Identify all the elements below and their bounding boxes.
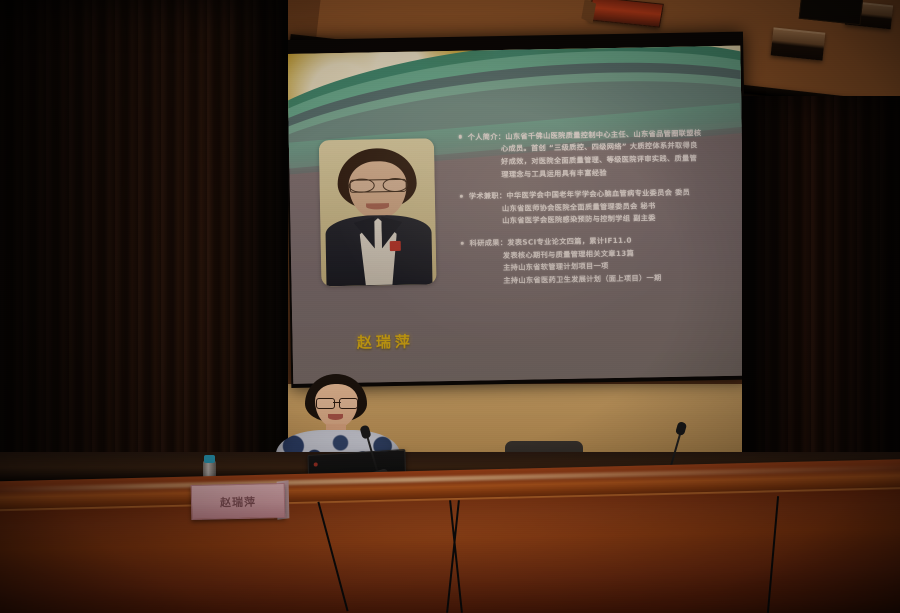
nameplate-text: 赵瑞萍	[220, 493, 256, 510]
conference-hall-photo: 赵瑞萍 个人简介：山东省千佛山医院质量控制中心主任、山东省品管圈联盟核 心成员。…	[0, 0, 900, 613]
slide-speaker-name: 赵瑞萍	[326, 330, 444, 353]
projection-screen: 赵瑞萍 个人简介：山东省千佛山医院质量控制中心主任、山东省品管圈联盟核 心成员。…	[285, 32, 749, 388]
slide-body-text: 个人简介：山东省千佛山医院质量控制中心主任、山东省品管圈联盟核 心成员。首创 “…	[459, 127, 734, 297]
speaker-portrait	[319, 139, 437, 286]
screen-surface: 赵瑞萍 个人简介：山东省千佛山医院质量控制中心主任、山东省品管圈联盟核 心成员。…	[287, 46, 746, 384]
laptop-indicator-light	[314, 462, 318, 466]
portrait-glasses-icon	[349, 178, 407, 193]
slide-section-research-achievements: 科研成果：发表SCI专业论文四篇，累计IF11.0 发表核心期刊与质量管理相关文…	[461, 233, 734, 288]
speaker-glasses-icon	[316, 398, 358, 407]
water-bottle-cap	[204, 455, 215, 463]
speaker-mouth	[328, 414, 343, 420]
ceiling-light-fixture	[771, 27, 826, 60]
portrait-lapel-badge	[390, 241, 401, 251]
slide-section-academic-positions: 学术兼职：中华医学会中国老年学学会心脑血管病专业委员会 委员 山东省医师协会医院…	[460, 186, 732, 229]
presentation-slide: 赵瑞萍 个人简介：山东省千佛山医院质量控制中心主任、山东省品管圈联盟核 心成员。…	[287, 46, 746, 384]
desk-nameplate: 赵瑞萍	[191, 483, 286, 520]
slide-section-personal-profile: 个人简介：山东省千佛山医院质量控制中心主任、山东省品管圈联盟核 心成员。首创 “…	[459, 127, 732, 182]
